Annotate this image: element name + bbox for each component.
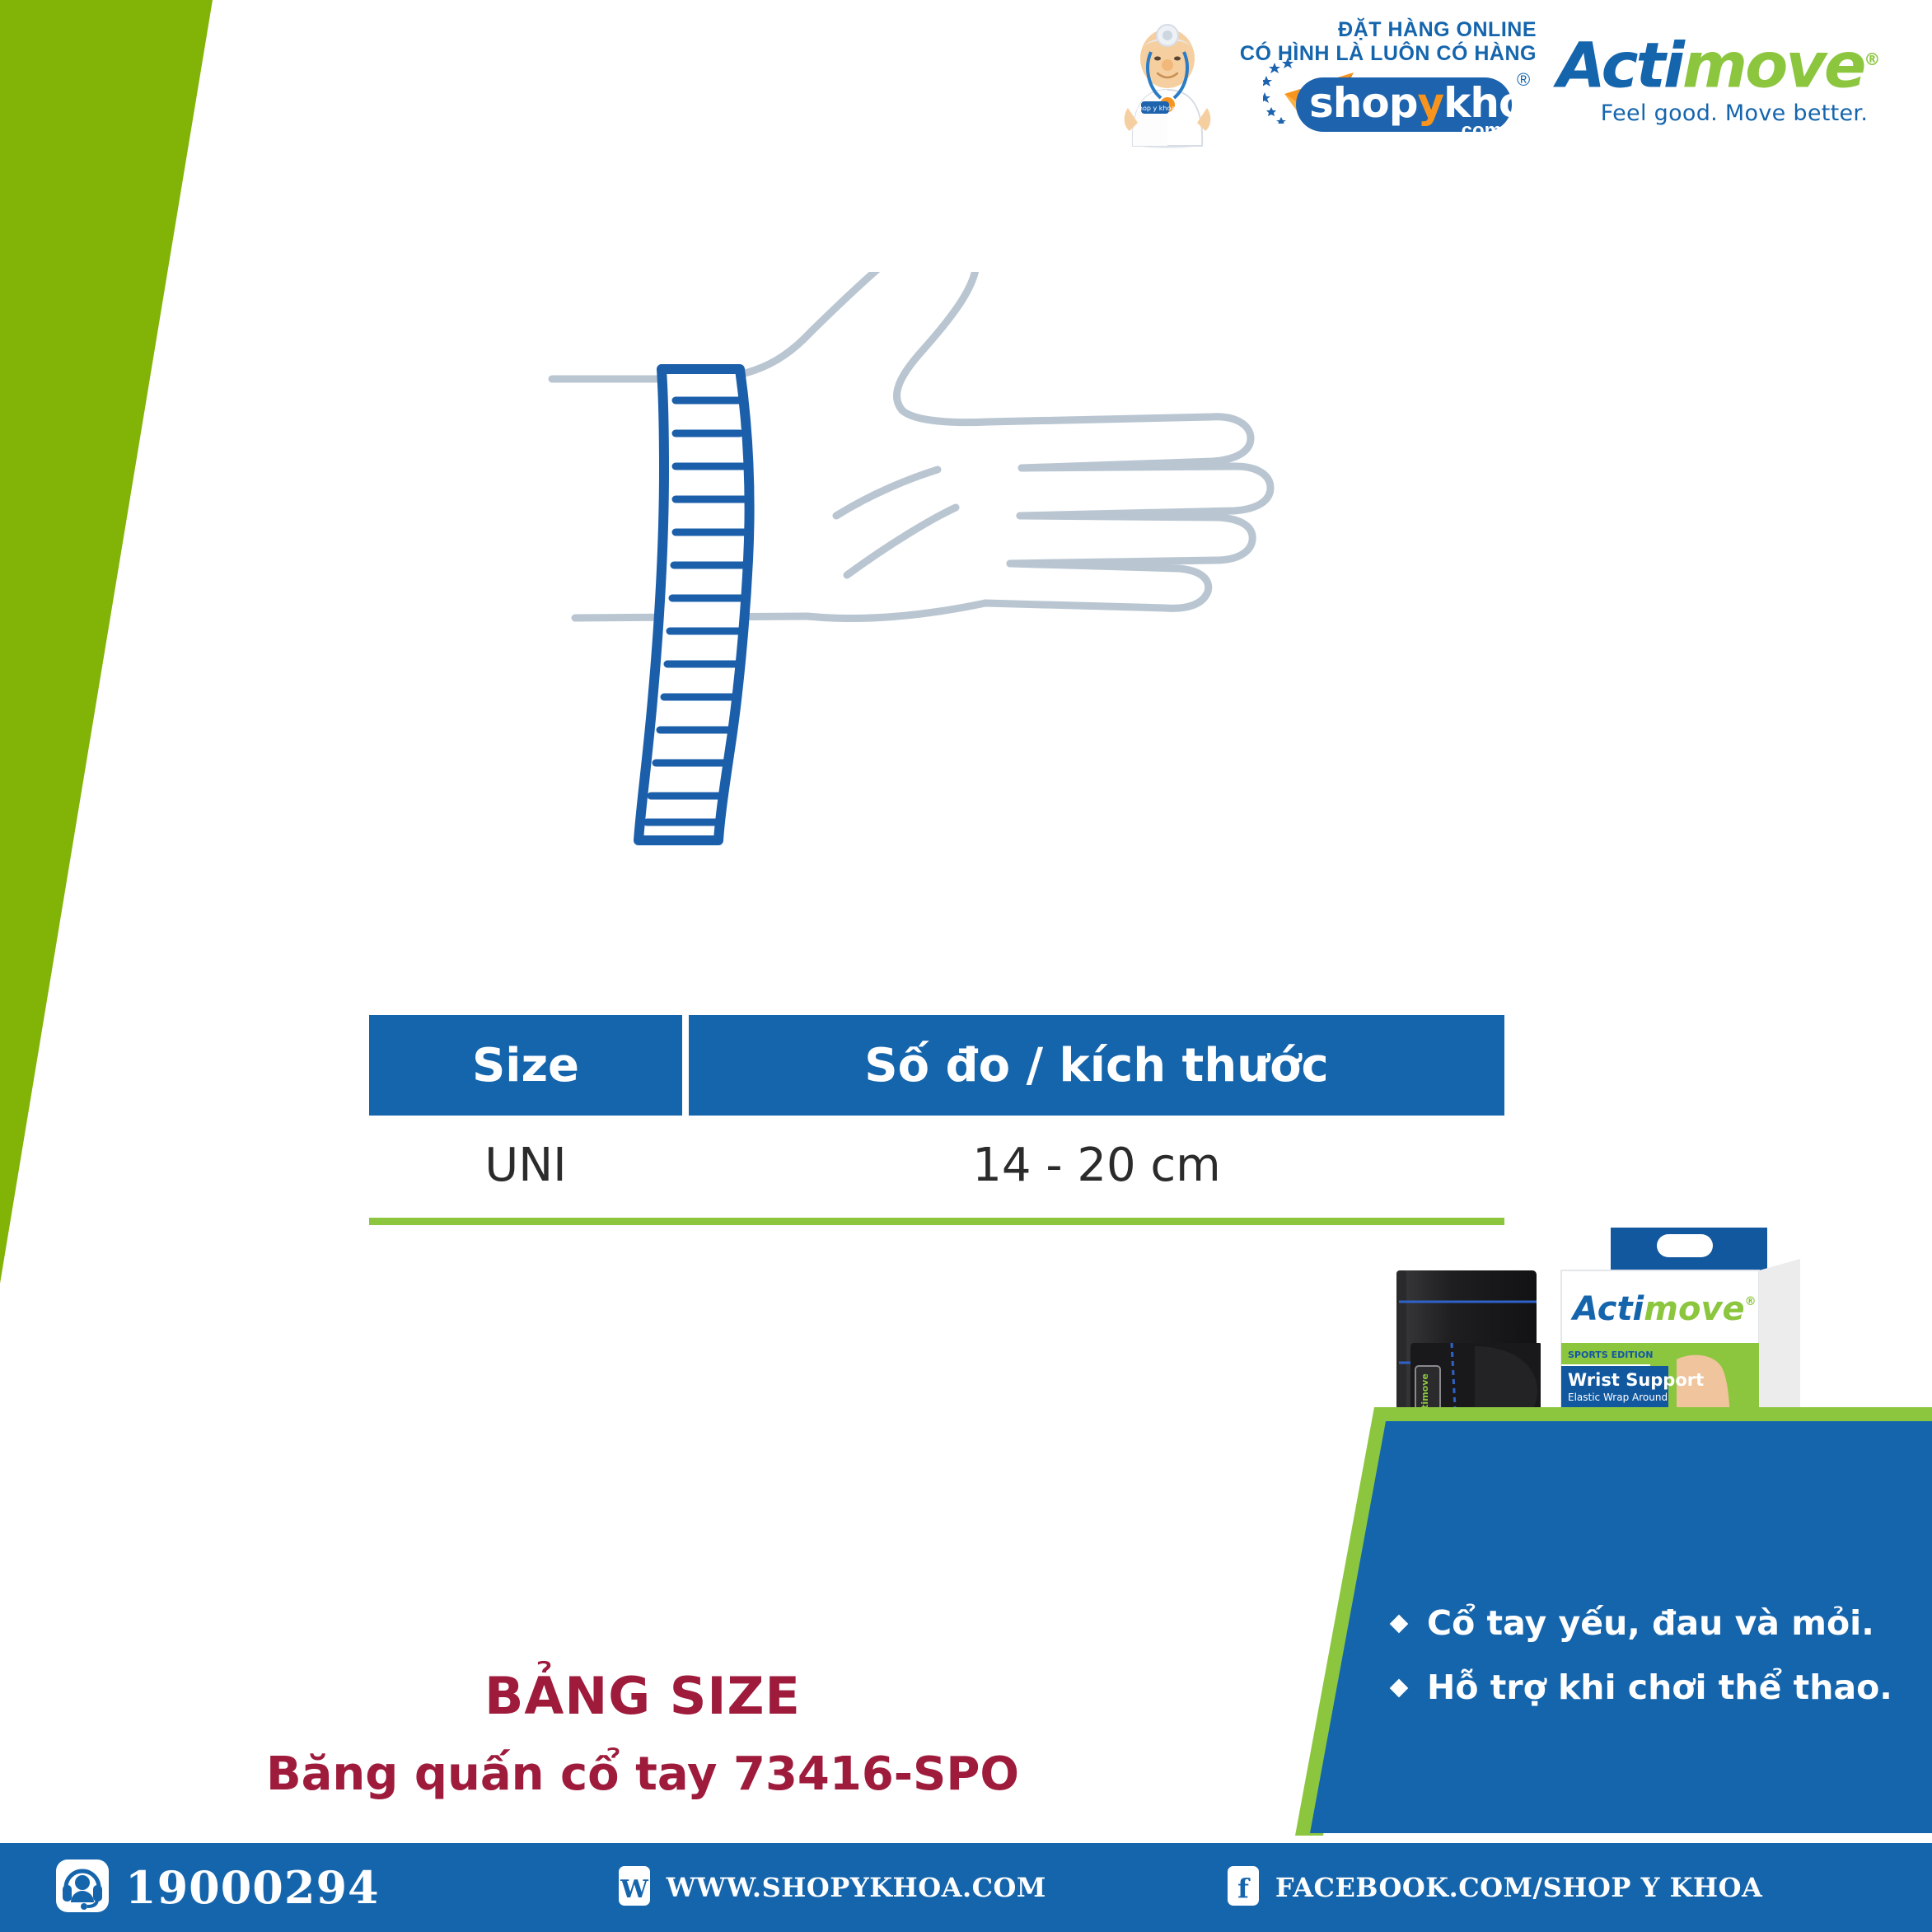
size-table-cell-size: UNI	[369, 1116, 682, 1214]
actimove-wordmark: Actimove®	[1557, 27, 1911, 97]
box-product-name: Wrist Support	[1568, 1370, 1704, 1390]
size-table-header-size: Size	[369, 1015, 682, 1116]
page-header: shop y khoa ĐẶT HÀNG ONLINE CÓ HÌNH LÀ L…	[0, 0, 1932, 173]
shopykhoa-wordmark: shopykhoa .com	[1296, 77, 1512, 132]
page-footer: 19000294 W WWW.SHOPYKHOA.COM f	[0, 1843, 1932, 1932]
headset-support-icon	[54, 1858, 110, 1918]
page-title-block: BẢNG SIZE Băng quấn cổ tay 73416-SPO	[0, 1666, 1285, 1801]
list-item: Cổ tay yếu, đau và mỏi.	[1392, 1602, 1920, 1644]
size-table-cell-size-value: UNI	[484, 1139, 566, 1192]
table-row: UNI 14 - 20 cm	[369, 1116, 1504, 1214]
shopykhoa-tagline-line1: ĐẶT HÀNG ONLINE	[1232, 18, 1537, 41]
brand-shop: shop	[1309, 79, 1418, 127]
actimove-tagline: Feel good. Move better.	[1557, 101, 1911, 126]
page-subtitle: Băng quấn cổ tay 73416-SPO	[0, 1747, 1285, 1801]
benefit-text: Cổ tay yếu, đau và mỏi.	[1427, 1602, 1874, 1644]
size-table-header-measurement-label: Số đo / kích thước	[864, 1039, 1328, 1092]
actimove-logo[interactable]: Actimove® Feel good. Move better.	[1557, 27, 1911, 143]
footer-website[interactable]: W WWW.SHOPYKHOA.COM	[617, 1864, 1046, 1911]
product-top-rule	[1317, 1218, 1504, 1224]
benefit-text: Hỗ trợ khi chơi thể thao.	[1427, 1667, 1892, 1708]
shopykhoa-registered-mark: ®	[1517, 69, 1530, 91]
actimove-registered-mark: ®	[1864, 49, 1878, 69]
www-icon: W	[617, 1864, 652, 1911]
footer-phone[interactable]: 19000294	[54, 1858, 380, 1918]
svg-text:f: f	[1237, 1873, 1251, 1904]
green-corner-wedge	[0, 0, 222, 1293]
box-edition-label: SPORTS EDITION	[1568, 1350, 1653, 1360]
svg-text:W: W	[620, 1875, 649, 1904]
size-table-header-row: Size Số đo / kích thước	[369, 1015, 1504, 1116]
size-table-cell-measurement-value: 14 - 20 cm	[972, 1139, 1220, 1192]
shopykhoa-logo[interactable]: ĐẶT HÀNG ONLINE CÓ HÌNH LÀ LUÔN CÓ HÀNG	[1232, 18, 1537, 150]
actimove-move: move	[1682, 28, 1864, 101]
brand-dotcom: .com	[1456, 119, 1502, 143]
footer-facebook-url: FACEBOOK.COM/SHOP Y KHOA	[1275, 1872, 1762, 1903]
size-chart-page: shop y khoa ĐẶT HÀNG ONLINE CÓ HÌNH LÀ L…	[0, 0, 1932, 1932]
footer-website-url: WWW.SHOPYKHOA.COM	[667, 1872, 1046, 1903]
size-table-header-measurement: Số đo / kích thước	[689, 1015, 1504, 1116]
footer-phone-number: 19000294	[125, 1861, 380, 1914]
size-table-header-size-label: Size	[472, 1039, 579, 1092]
facebook-icon: f	[1226, 1864, 1261, 1911]
brand-y: y	[1418, 79, 1444, 127]
diamond-bullet-icon	[1390, 1679, 1409, 1698]
svg-text:shop y khoa: shop y khoa	[1135, 105, 1176, 112]
size-table: Size Số đo / kích thước UNI 14 - 20 cm	[369, 1015, 1504, 1214]
diamond-bullet-icon	[1390, 1615, 1409, 1634]
benefits-list: Cổ tay yếu, đau và mỏi. Hỗ trợ khi chơi …	[1392, 1602, 1920, 1731]
list-item: Hỗ trợ khi chơi thể thao.	[1392, 1667, 1920, 1708]
box-brand-acti: Actimove®	[1570, 1290, 1757, 1328]
wrist-measurement-illustration	[527, 272, 1318, 931]
doctor-mascot-icon: shop y khoa	[1116, 22, 1219, 150]
page-title: BẢNG SIZE	[0, 1666, 1285, 1726]
footer-facebook[interactable]: f FACEBOOK.COM/SHOP Y KHOA	[1226, 1864, 1762, 1911]
size-table-cell-measurement: 14 - 20 cm	[689, 1116, 1504, 1214]
actimove-acti: Acti	[1557, 28, 1682, 101]
box-product-subtitle: Elastic Wrap Around	[1568, 1392, 1668, 1403]
